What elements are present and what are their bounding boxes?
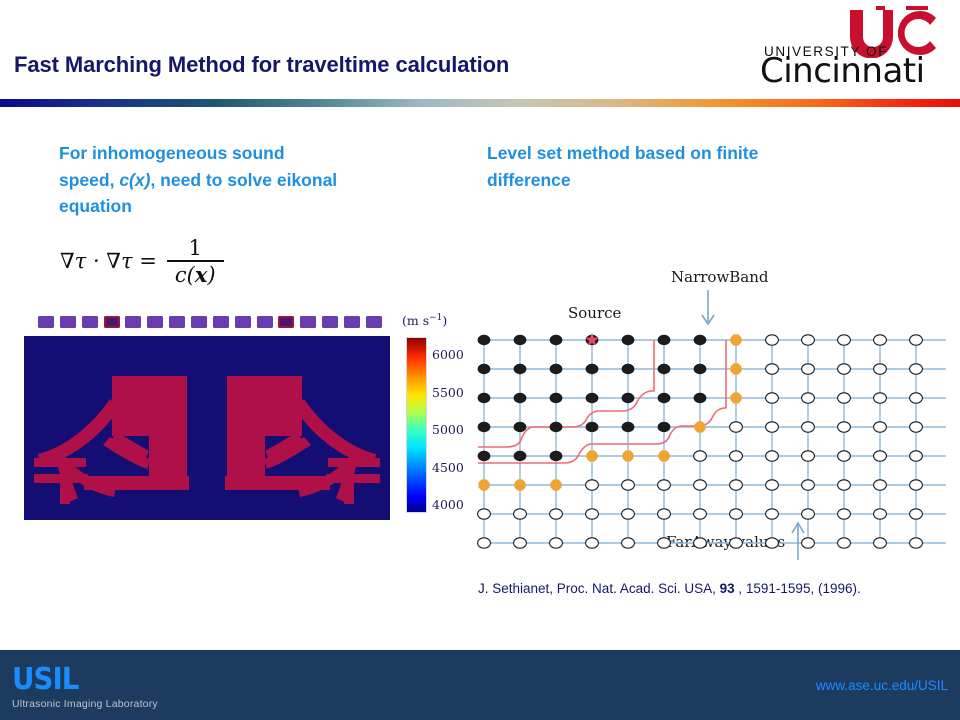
faraway-node [838, 364, 851, 374]
faraway-node [910, 393, 923, 403]
accepted-node [478, 451, 491, 461]
grid-svg [476, 268, 946, 568]
accepted-node [550, 422, 563, 432]
transducer-element [366, 316, 382, 328]
faraway-node [478, 538, 491, 548]
faraway-node [802, 364, 815, 374]
accepted-node [658, 364, 671, 374]
faraway-node [802, 335, 815, 345]
accepted-node [514, 393, 527, 403]
colorbar-unit-label: (m s−1) [402, 313, 447, 328]
accepted-node [478, 393, 491, 403]
header-gradient-divider [0, 99, 960, 107]
faraway-node [802, 480, 815, 490]
faraway-node [910, 422, 923, 432]
faraway-node [874, 422, 887, 432]
faraway-node [910, 451, 923, 461]
accepted-node [694, 364, 707, 374]
faraway-node [730, 480, 743, 490]
accepted-node [478, 422, 491, 432]
colorbar-tick-label: 6000 [432, 347, 464, 362]
faraway-node [694, 538, 707, 548]
faraway-node [910, 335, 923, 345]
faraway-node [838, 538, 851, 548]
faraway-node [874, 538, 887, 548]
faraway-node [766, 509, 779, 519]
transducer-element [278, 316, 294, 328]
faraway-node [874, 509, 887, 519]
faraway-node [586, 538, 599, 548]
faraway-node [766, 538, 779, 548]
logo-line2: Cincinnati [760, 54, 925, 88]
equation-numerator: 1 [179, 237, 212, 260]
accepted-node [622, 393, 635, 403]
colorbar-tick-label: 5000 [432, 422, 464, 437]
faraway-node [838, 451, 851, 461]
faraway-node [766, 393, 779, 403]
usil-url-link[interactable]: www.ase.uc.edu/USIL [816, 678, 948, 693]
transducer-element [213, 316, 229, 328]
accepted-node [514, 422, 527, 432]
accepted-node [622, 422, 635, 432]
faraway-node [658, 509, 671, 519]
footer: USIL Ultrasonic Imaging Laboratory www.a… [0, 650, 960, 720]
university-logo: UNIVERSITY OF Cincinnati [758, 4, 956, 94]
faraway-node [730, 422, 743, 432]
faraway-node [694, 480, 707, 490]
faraway-node [874, 364, 887, 374]
accepted-node [550, 451, 563, 461]
faraway-node [730, 538, 743, 548]
speed-map-svg [24, 336, 390, 520]
accepted-node [550, 335, 563, 345]
transducer-element [147, 316, 163, 328]
accepted-node [586, 393, 599, 403]
accepted-node [658, 335, 671, 345]
faraway-node [622, 509, 635, 519]
faraway-node [550, 538, 563, 548]
faraway-node [802, 393, 815, 403]
transducer-element [257, 316, 273, 328]
eikonal-equation: ∇τ · ∇τ = 1 c(x) [60, 237, 224, 286]
transducer-element [169, 316, 185, 328]
equation-denominator: c(x) [167, 262, 224, 286]
faraway-node [874, 480, 887, 490]
accepted-node [658, 422, 671, 432]
faraway-node [766, 451, 779, 461]
faraway-node [658, 480, 671, 490]
accepted-node [586, 364, 599, 374]
page-title: Fast Marching Method for traveltime calc… [14, 52, 714, 78]
faraway-node [766, 364, 779, 374]
faraway-node [730, 451, 743, 461]
faraway-node [838, 480, 851, 490]
transducer-element [104, 316, 120, 328]
right-description-text: Level set method based on finite differe… [487, 140, 827, 193]
faraway-node [694, 451, 707, 461]
transducer-element [300, 316, 316, 328]
transducer-element [344, 316, 360, 328]
colorbar-tick-label: 4000 [432, 497, 464, 512]
sound-speed-map [24, 316, 390, 520]
accepted-node [514, 335, 527, 345]
colorbar-tick-label: 4500 [432, 460, 464, 475]
accepted-node [694, 335, 707, 345]
faraway-node [802, 451, 815, 461]
faraway-node [622, 480, 635, 490]
usil-logo: USIL [12, 662, 78, 697]
accepted-node [514, 451, 527, 461]
faraway-node [766, 335, 779, 345]
faraway-node [766, 480, 779, 490]
faraway-node [838, 422, 851, 432]
colorbar-tick-label: 5500 [432, 385, 464, 400]
faraway-node [838, 393, 851, 403]
speed-map-image [24, 336, 390, 520]
faraway-node [730, 509, 743, 519]
accepted-node [478, 364, 491, 374]
accepted-node [550, 393, 563, 403]
accepted-node [694, 393, 707, 403]
faraway-node [874, 335, 887, 345]
faraway-node [586, 509, 599, 519]
accepted-node [478, 335, 491, 345]
faraway-node [802, 422, 815, 432]
transducer-element [38, 316, 54, 328]
equation-lhs: ∇τ · ∇τ = [60, 249, 157, 273]
faraway-node [586, 480, 599, 490]
faraway-node [658, 538, 671, 548]
faraway-node [550, 509, 563, 519]
faraway-node [910, 480, 923, 490]
faraway-node [910, 509, 923, 519]
faraway-node [910, 364, 923, 374]
faraway-node [838, 509, 851, 519]
accepted-node [658, 393, 671, 403]
accepted-node [586, 422, 599, 432]
citation: J. Sethianet, Proc. Nat. Acad. Sci. USA,… [478, 581, 861, 596]
faraway-node [910, 538, 923, 548]
transducer-array [38, 316, 382, 329]
faraway-node [514, 509, 527, 519]
colorbar: (m s−1) 60005500500045004000 [402, 313, 482, 525]
faraway-node [874, 451, 887, 461]
accepted-node [622, 335, 635, 345]
accepted-node [514, 364, 527, 374]
narrowband-grid-diagram: NarrowBand Source FarAway values [476, 268, 946, 568]
faraway-node [802, 538, 815, 548]
faraway-node [622, 538, 635, 548]
accepted-node [622, 364, 635, 374]
usil-subtitle: Ultrasonic Imaging Laboratory [12, 698, 158, 710]
faraway-node [802, 509, 815, 519]
transducer-element [60, 316, 76, 328]
transducer-element [82, 316, 98, 328]
transducer-element [125, 316, 141, 328]
faraway-node [478, 509, 491, 519]
transducer-element [235, 316, 251, 328]
colorbar-gradient [406, 337, 427, 513]
accepted-node [550, 364, 563, 374]
left-description-text: For inhomogeneous sound speed, c(x), nee… [59, 140, 339, 220]
equation-fraction: 1 c(x) [167, 237, 224, 286]
slide: Fast Marching Method for traveltime calc… [0, 0, 960, 720]
transducer-element [191, 316, 207, 328]
faraway-node [838, 335, 851, 345]
faraway-node [874, 393, 887, 403]
faraway-node [766, 422, 779, 432]
faraway-node [694, 509, 707, 519]
faraway-node [514, 538, 527, 548]
transducer-element [322, 316, 338, 328]
